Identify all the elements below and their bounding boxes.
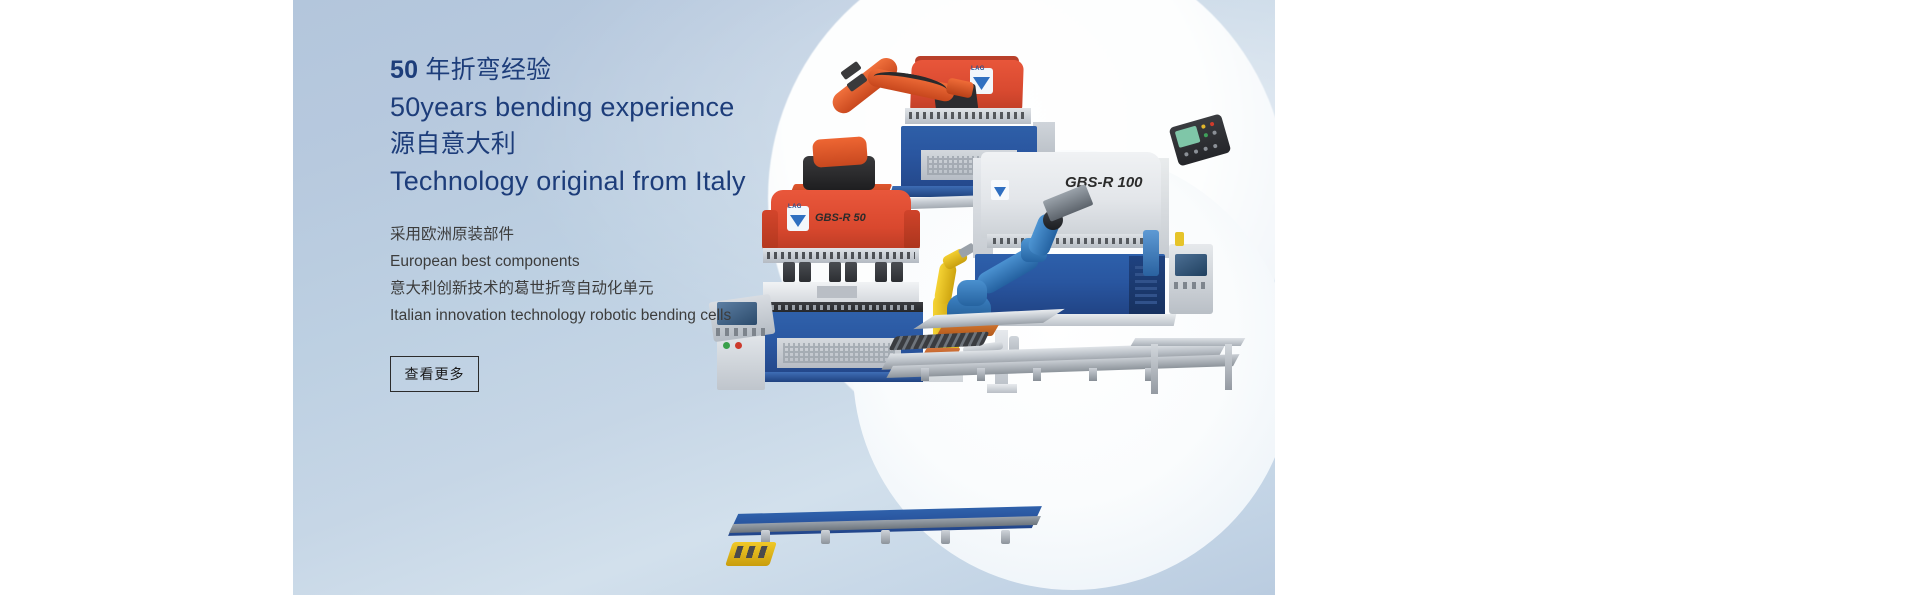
lag-logo-icon-right [991, 180, 1009, 200]
banner-text-column: 50 年折弯经验 50years bending experience 源自意大… [390, 52, 810, 392]
subtext-block: 采用欧洲原装部件 European best components 意大利创新技… [390, 221, 810, 329]
headline-line-2: 50years bending experience [390, 89, 810, 126]
view-more-button[interactable]: 查看更多 [390, 356, 479, 392]
headline-line-4: Technology original from Italy [390, 163, 810, 200]
subtext-line-2: European best components [390, 248, 810, 275]
subtext-line-4: Italian innovation technology robotic be… [390, 302, 810, 329]
lag-brand-label-top: LAG [971, 66, 985, 72]
hero-banner: LAG [293, 0, 1275, 595]
subtext-line-1: 采用欧洲原装部件 [390, 221, 810, 248]
gantry-frame [1133, 338, 1243, 396]
yellow-tooling-block [725, 542, 777, 566]
headline-block: 50 年折弯经验 50years bending experience 源自意大… [390, 52, 810, 200]
headline-line-3: 源自意大利 [390, 126, 810, 163]
headline-line-1: 50 年折弯经验 [390, 52, 810, 89]
press-brake-machine-gbsr100: GBS-R 100 [933, 152, 1233, 362]
headline-line-1-text: 年折弯经验 [418, 56, 551, 84]
headline-line-1-number: 50 [390, 56, 418, 84]
machine-model-label-gbsr50: GBS-R 50 [815, 212, 866, 224]
subtext-line-3: 意大利创新技术的葛世折弯自动化单元 [390, 275, 810, 302]
control-cabinet [1169, 244, 1213, 314]
